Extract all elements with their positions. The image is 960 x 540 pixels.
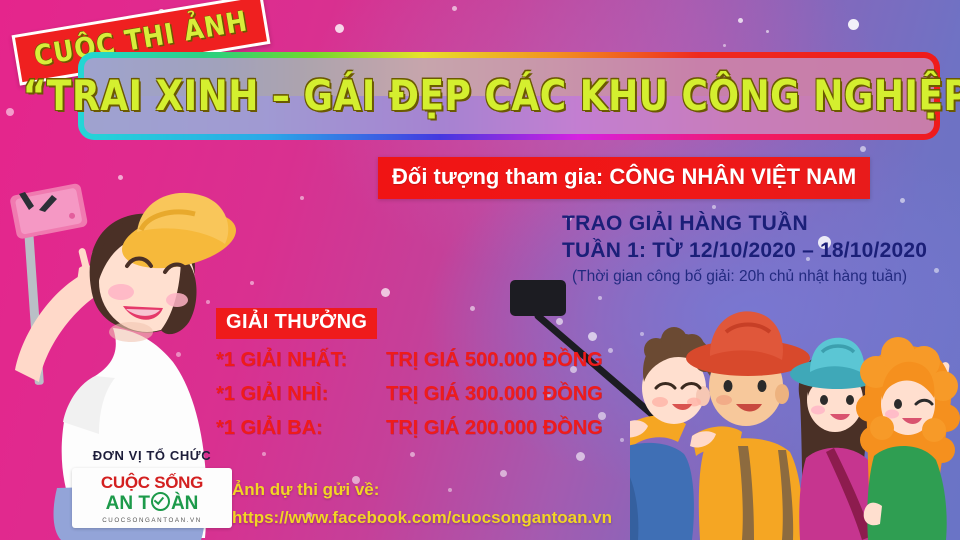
prize-value: TRỊ GIÁ 500.000 ĐỒNG <box>386 349 603 372</box>
submission-block: Ảnh dự thi gửi về: https://www.facebook.… <box>232 480 612 528</box>
logo-mid-right: ÀN <box>171 493 198 514</box>
main-title-box: “TRAI XINH – GÁI ĐẸP CÁC KHU CÔNG NGHIỆP… <box>78 52 940 140</box>
prizes-list: *1 GIẢI NHẤT: TRỊ GIÁ 500.000 ĐỒNG *1 GI… <box>216 349 603 440</box>
prize-name: *1 GIẢI NHÌ: <box>216 383 386 406</box>
submission-label: Ảnh dự thi gửi về: <box>232 480 612 500</box>
check-circle-icon <box>151 492 170 511</box>
logo-line-mid: AN TÀN <box>78 492 226 514</box>
organizer-block: ĐƠN VỊ TỔ CHỨC CUỘC SỐNG AN TÀN CUOCSONG… <box>72 448 232 528</box>
organizer-heading: ĐƠN VỊ TỔ CHỨC <box>72 448 232 463</box>
prizes-block: GIẢI THƯỞNG *1 GIẢI NHẤT: TRỊ GIÁ 500.00… <box>216 308 603 451</box>
prize-row: *1 GIẢI NHẤT: TRỊ GIÁ 500.000 ĐỒNG <box>216 349 603 372</box>
weekly-award-note: (Thời gian công bố giải: 20h chủ nhật hà… <box>572 268 927 286</box>
prize-value: TRỊ GIÁ 200.000 ĐỒNG <box>386 417 603 440</box>
logo-mid-left: AN T <box>106 493 150 514</box>
target-audience-banner: Đối tượng tham gia: CÔNG NHÂN VIỆT NAM <box>378 157 870 199</box>
weekly-award-heading: TRAO GIẢI HÀNG TUẦN <box>562 212 927 236</box>
prize-name: *1 GIẢI NHẤT: <box>216 349 386 372</box>
prize-name: *1 GIẢI BA: <box>216 417 386 440</box>
group-people-illustration <box>630 300 960 540</box>
page-title: “TRAI XINH – GÁI ĐẸP CÁC KHU CÔNG NGHIỆP… <box>23 72 960 120</box>
prize-value: TRỊ GIÁ 300.000 ĐỒNG <box>386 383 603 406</box>
logo-domain: CUOCSONGANTOAN.VN <box>78 517 226 524</box>
weekly-award-dates: TUẦN 1: TỪ 12/10/2020 – 18/10/2020 <box>562 239 927 263</box>
target-audience-label: Đối tượng tham gia: CÔNG NHÂN VIỆT NAM <box>392 164 856 190</box>
submission-url[interactable]: https://www.facebook.com/cuocsongantoan.… <box>232 508 612 528</box>
organizer-logo: CUỘC SỐNG AN TÀN CUOCSONGANTOAN.VN <box>72 468 232 528</box>
logo-line-top: CUỘC SỐNG <box>78 474 226 492</box>
poster-canvas: CUỘC THI ẢNH “TRAI XINH – GÁI ĐẸP CÁC KH… <box>0 0 960 540</box>
main-title-inner: “TRAI XINH – GÁI ĐẸP CÁC KHU CÔNG NGHIỆP… <box>84 58 934 134</box>
prizes-label: GIẢI THƯỞNG <box>216 308 377 339</box>
weekly-award-block: TRAO GIẢI HÀNG TUẦN TUẦN 1: TỪ 12/10/202… <box>562 212 927 286</box>
prize-row: *1 GIẢI BA: TRỊ GIÁ 200.000 ĐỒNG <box>216 417 603 440</box>
prize-row: *1 GIẢI NHÌ: TRỊ GIÁ 300.000 ĐỒNG <box>216 383 603 406</box>
